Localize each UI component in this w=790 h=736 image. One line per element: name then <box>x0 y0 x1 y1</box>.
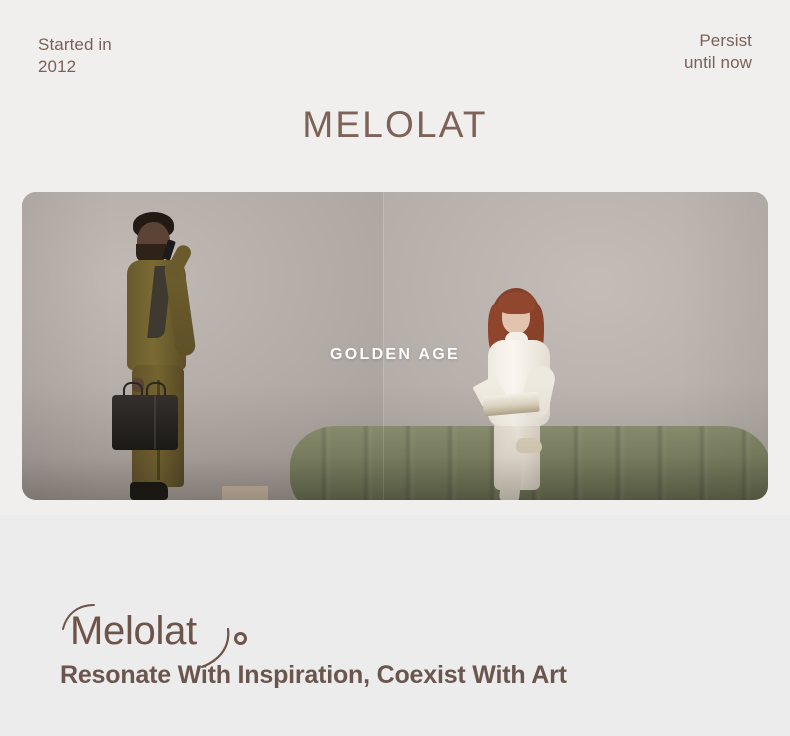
brand-title: MELOLAT <box>0 103 790 147</box>
man-shoe <box>130 482 168 500</box>
started-in-caption: Started in 2012 <box>38 34 112 78</box>
woman-shoe <box>516 438 542 453</box>
started-in-line1: Started in <box>38 34 112 56</box>
persist-line1: Persist <box>684 30 752 52</box>
woman-figure <box>480 288 576 500</box>
persist-line2: until now <box>684 52 752 74</box>
promo-page: Started in 2012 Persist until now MELOLA… <box>0 0 790 736</box>
footer-band: Melolat Resonate With Inspiration, Coexi… <box>0 515 790 736</box>
hero-banner[interactable]: GOLDEN AGE <box>22 192 768 500</box>
tan-floor-object <box>222 486 268 500</box>
logo-dot-icon <box>234 632 247 645</box>
briefcase-seam <box>154 396 156 449</box>
persist-caption: Persist until now <box>684 30 752 74</box>
tagline: Resonate With Inspiration, Coexist With … <box>60 659 567 691</box>
logo-wordmark: Melolat <box>70 605 197 657</box>
golden-age-label: GOLDEN AGE <box>22 346 768 364</box>
caption-row: Started in 2012 Persist until now <box>0 30 790 90</box>
woman-hair-front <box>498 292 535 314</box>
started-in-line2: 2012 <box>38 56 112 78</box>
briefcase <box>112 395 178 450</box>
